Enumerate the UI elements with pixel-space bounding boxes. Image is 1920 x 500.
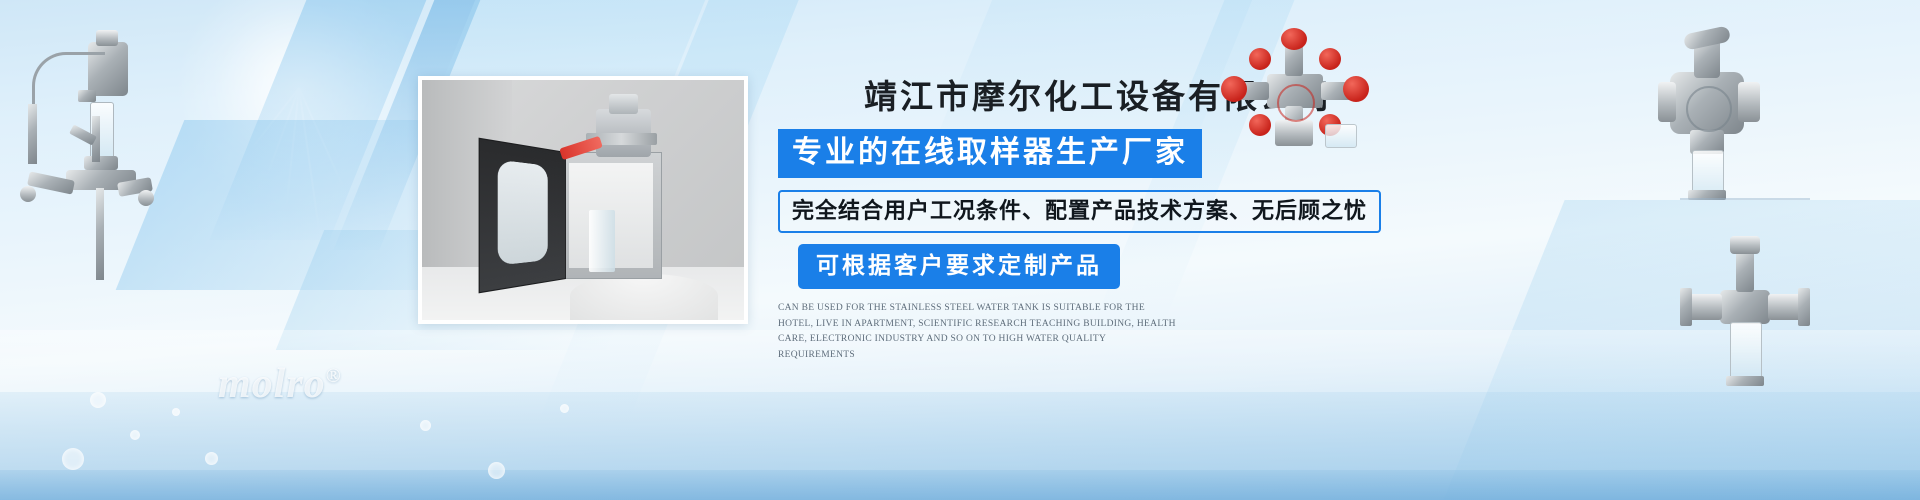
watermark-text: molro [218, 361, 326, 407]
bubble-icon [130, 430, 140, 440]
bubble-icon [420, 420, 431, 431]
sub-headline: 完全结合用户工况条件、配置产品技术方案、无后顾之忧 [778, 190, 1381, 234]
headline-banner: 专业的在线取样器生产厂家 [778, 129, 1202, 177]
promo-banner: 靖江市摩尔化工设备有限公司 专业的在线取样器生产厂家 完全结合用户工况条件、配置… [0, 0, 1920, 500]
inline-sampler-valve-icon [1680, 232, 1810, 402]
product-photo-image [418, 76, 748, 324]
bubble-icon [560, 404, 569, 413]
sampler-assembly-icon [10, 20, 160, 300]
bubble-icon [488, 462, 505, 479]
bubble-icon [205, 452, 218, 465]
cross-valve-manifold-icon [1215, 28, 1375, 158]
tagline-badge: 可根据客户要求定制产品 [798, 244, 1120, 289]
watermark-logo: molro® [218, 360, 342, 408]
bubble-icon [62, 448, 84, 470]
bubble-icon [172, 408, 180, 416]
registered-mark-icon: ® [326, 365, 342, 387]
bubble-icon [90, 392, 106, 408]
english-description: CAN BE USED FOR THE STAINLESS STEEL WATE… [778, 301, 1178, 364]
angle-valve-body-icon [1640, 30, 1780, 210]
horizon-band [0, 470, 1920, 500]
